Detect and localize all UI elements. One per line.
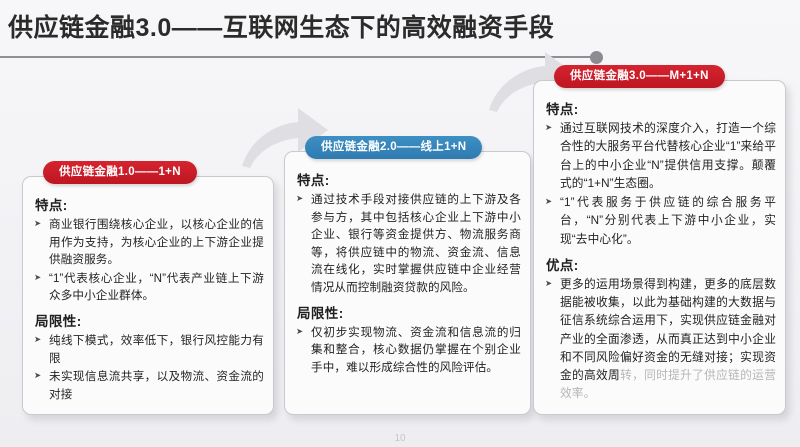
list-item: 更多的运用场景得到构建，更多的底层数据能被收集，以此为基础构建的大数据与征信系统… bbox=[545, 276, 776, 404]
section-heading-limitations: 局限性: bbox=[297, 302, 521, 322]
section-heading-features: 特点: bbox=[546, 98, 776, 118]
slide-canvas: 供应链金融3.0——互联网生态下的高效融资手段 供应链金融1.0——1+N 特点… bbox=[0, 0, 800, 447]
stage-card-1-body: 特点: 商业银行围绕核心企业，以核心企业的信用作为支持，为核心企业的上下游企业提… bbox=[23, 177, 273, 412]
list-item: “1”代表核心企业，“N”代表产业链上下游众多中小企业群体。 bbox=[34, 270, 264, 305]
list-item: 商业银行围绕核心企业，以核心企业的信用作为支持，为核心企业的上下游企业提供融资服… bbox=[34, 216, 264, 269]
list-item: 未实现信息流共享，以及物流、资金流的对接 bbox=[34, 368, 264, 403]
limitation-bullet-list: 纯线下模式，效率低下，银行风控能力有限 未实现信息流共享，以及物流、资金流的对接 bbox=[34, 332, 264, 403]
feature-bullet-list: 通过互联网技术的深度介入，打造一个综合性的大服务平台代替核心企业“1”来给平台上… bbox=[545, 120, 776, 249]
section-heading-limitations: 局限性: bbox=[35, 310, 264, 330]
title-divider-endpoint-dot bbox=[590, 51, 603, 64]
stage-card-2-pill-label: 供应链金融2.0——线上1+N bbox=[305, 136, 482, 159]
list-item: “1”代表服务于供应链的综合服务平台，“N”分别代表上下游中小企业，实现“去中心… bbox=[545, 194, 776, 249]
limitation-bullet-list: 仅初步实现物流、资金流和信息流的归集和整合，核心数据仍掌握在个别企业手中，难以形… bbox=[296, 324, 521, 377]
stage-card-2-body: 特点: 通过技术手段对接供应链的上下游及各参与方，其中包括核心企业上下游中小企业… bbox=[285, 152, 530, 385]
section-heading-features: 特点: bbox=[35, 194, 264, 214]
stage-card-supply-chain-finance-1[interactable]: 供应链金融1.0——1+N 特点: 商业银行围绕核心企业，以核心企业的信用作为支… bbox=[22, 176, 274, 415]
list-item: 通过互联网技术的深度介入，打造一个综合性的大服务平台代替核心企业“1”来给平台上… bbox=[545, 120, 776, 193]
stage-card-3-pill-label: 供应链金融3.0——M+1+N bbox=[554, 65, 725, 88]
stage-card-3-body: 特点: 通过互联网技术的深度介入，打造一个综合性的大服务平台代替核心企业“1”来… bbox=[534, 81, 785, 413]
feature-bullet-list: 通过技术手段对接供应链的上下游及各参与方，其中包括核心企业上下游中小企业、银行等… bbox=[296, 191, 521, 297]
stage-card-1-pill-label: 供应链金融1.0——1+N bbox=[43, 161, 197, 184]
page-number: 10 bbox=[0, 433, 800, 444]
advantage-bullet-list: 更多的运用场景得到构建，更多的底层数据能被收集，以此为基础构建的大数据与征信系统… bbox=[545, 276, 776, 404]
stage-card-supply-chain-finance-2[interactable]: 供应链金融2.0——线上1+N 特点: 通过技术手段对接供应链的上下游及各参与方… bbox=[284, 151, 531, 415]
list-item: 仅初步实现物流、资金流和信息流的归集和整合，核心数据仍掌握在个别企业手中，难以形… bbox=[296, 324, 521, 377]
page-title: 供应链金融3.0——互联网生态下的高效融资手段 bbox=[8, 8, 648, 44]
feature-bullet-list: 商业银行围绕核心企业，以核心企业的信用作为支持，为核心企业的上下游企业提供融资服… bbox=[34, 216, 264, 305]
section-heading-features: 特点: bbox=[297, 169, 521, 189]
advantage-text: 更多的运用场景得到构建，更多的底层数据能被收集，以此为基础构建的大数据与征信系统… bbox=[560, 278, 776, 382]
section-heading-advantages: 优点: bbox=[546, 254, 776, 274]
list-item: 纯线下模式，效率低下，银行风控能力有限 bbox=[34, 332, 264, 367]
list-item: 通过技术手段对接供应链的上下游及各参与方，其中包括核心企业上下游中小企业、银行等… bbox=[296, 191, 521, 297]
stage-card-supply-chain-finance-3[interactable]: 供应链金融3.0——M+1+N 特点: 通过互联网技术的深度介入，打造一个综合性… bbox=[533, 80, 786, 415]
